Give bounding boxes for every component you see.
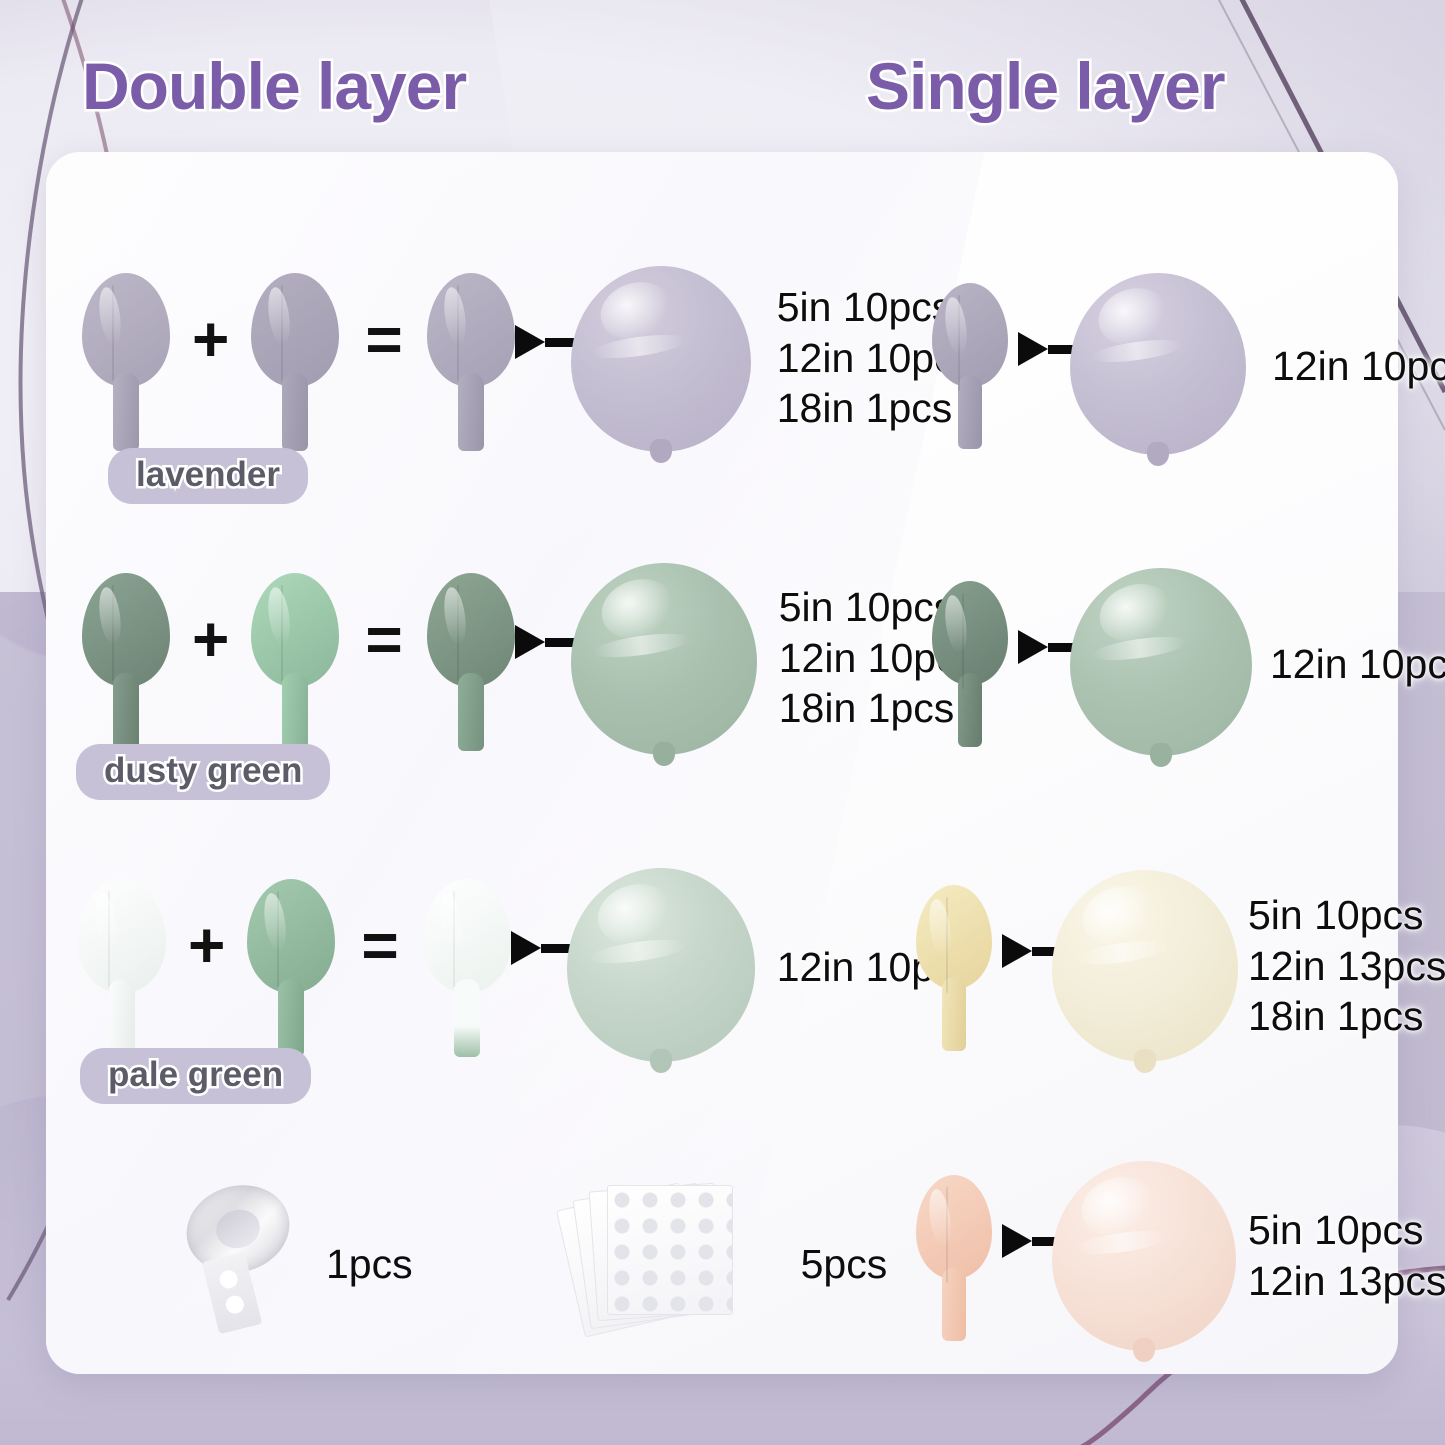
- color-label-text: lavender: [108, 448, 308, 504]
- inflated-balloon-blush-pink: [1052, 1161, 1236, 1351]
- spec-line: 5in 10pcs: [1248, 890, 1445, 941]
- equals-operator: =: [365, 607, 402, 671]
- spec-line: 12in 13pcs: [1248, 941, 1445, 992]
- spec-line: 5in 10pcs: [1248, 1205, 1445, 1256]
- color-label-text: dusty green: [76, 744, 330, 800]
- equals-operator: =: [365, 307, 402, 371]
- accessory-count-arch-strip: 1pcs: [326, 1241, 413, 1288]
- single-layer-row-blush-pink: 5in 10pcs 12in 13pcs: [880, 1158, 1400, 1358]
- inflated-balloon-pale-green: [567, 868, 755, 1062]
- spec-line: 12in 10pcs: [1272, 341, 1445, 392]
- spec-line: 12in 10pcs: [1270, 639, 1445, 690]
- flat-balloon-dusty-green-result: [427, 573, 515, 751]
- color-label-lavender: lavender: [108, 448, 308, 504]
- specs-single-cream: 5in 10pcs 12in 13pcs 18in 1pcs: [1248, 890, 1445, 1042]
- color-label-dusty-green: dusty green: [76, 744, 330, 800]
- flat-balloon-white-outer: [78, 879, 166, 1057]
- rows-container: + = 5in 10pcs: [0, 0, 1445, 1445]
- flat-balloon-cream: [916, 885, 992, 1051]
- flat-balloon-lavender: [932, 283, 1008, 449]
- inflated-balloon-lavender: [571, 266, 751, 452]
- accessory-count-glue-dots: 5pcs: [801, 1241, 888, 1288]
- flat-balloon-dusty-green-outer: [82, 573, 170, 751]
- inflated-balloon-cream: [1052, 870, 1238, 1062]
- balloon-arch-strip-icon: [180, 1182, 300, 1332]
- specs-single-dusty-green: 12in 10pcs: [1270, 639, 1445, 690]
- flat-balloon-pale-green-result: [423, 879, 511, 1057]
- specs-single-blush-pink: 5in 10pcs 12in 13pcs: [1248, 1205, 1445, 1307]
- spec-line: 12in 13pcs: [1248, 1256, 1445, 1307]
- flat-balloon-blush-pink: [916, 1175, 992, 1341]
- plus-operator: +: [188, 913, 225, 977]
- single-layer-row-lavender: 12in 10pcs: [880, 268, 1400, 464]
- plus-operator: +: [192, 307, 229, 371]
- flat-balloon-green-inner: [247, 879, 335, 1057]
- accessories-row: 1pcs 5pcs: [180, 1172, 887, 1342]
- spec-line: 18in 1pcs: [1248, 991, 1445, 1042]
- flat-balloon-dusty-green: [932, 581, 1008, 747]
- flat-balloon-pale-green-inner: [251, 573, 339, 751]
- single-layer-row-cream: 5in 10pcs 12in 13pcs 18in 1pcs: [880, 868, 1400, 1068]
- flat-balloon-lavender-inner: [251, 273, 339, 451]
- inflated-balloon-dusty-green: [571, 563, 757, 755]
- inflated-balloon-dusty-green: [1070, 568, 1252, 756]
- infographic-canvas: Double layer Single layer + =: [0, 0, 1445, 1445]
- color-label-pale-green: pale green: [80, 1048, 311, 1104]
- double-layer-row-dusty-green: + = 5in 10pcs: [20, 562, 860, 762]
- flat-balloon-lavender-outer: [82, 273, 170, 451]
- plus-operator: +: [192, 607, 229, 671]
- single-layer-row-dusty-green: 12in 10pcs: [880, 566, 1400, 762]
- color-label-text: pale green: [80, 1048, 311, 1104]
- glue-dot-sheets-icon: [565, 1177, 755, 1337]
- double-layer-row-lavender: + = 5in 10pcs: [20, 262, 860, 462]
- specs-single-lavender: 12in 10pcs: [1272, 341, 1445, 392]
- flat-balloon-lavender-result: [427, 273, 515, 451]
- double-layer-row-pale-green: + = 12in 10pcs: [20, 868, 860, 1068]
- equals-operator: =: [361, 913, 398, 977]
- inflated-balloon-lavender: [1070, 273, 1246, 455]
